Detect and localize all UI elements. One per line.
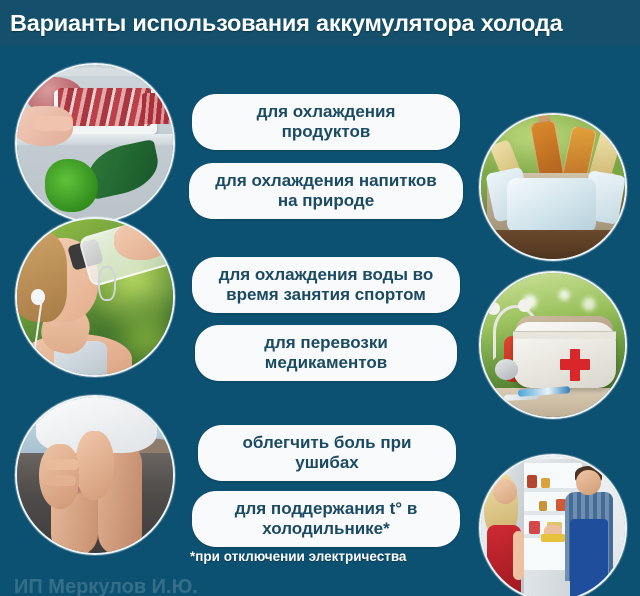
usage-pill-line1: для охлаждения воды во bbox=[219, 265, 434, 285]
photo-beer-on-ice bbox=[479, 113, 627, 261]
title-bar: Варианты использования аккумулятора холо… bbox=[0, 0, 640, 46]
usage-pill-line2: время занятия спортом bbox=[219, 285, 434, 305]
photo-fridge-repair bbox=[479, 454, 627, 596]
footnote: *при отключении электричества bbox=[190, 549, 406, 564]
usage-pill-line2: холодильнике* bbox=[235, 519, 418, 539]
usage-pill-line1: для охлаждения bbox=[257, 102, 396, 122]
photo-knee-injury bbox=[15, 395, 175, 555]
watermark: ИП Меркулов И.Ю. bbox=[14, 576, 198, 596]
usage-pill-line1: облегчить боль при bbox=[243, 433, 412, 453]
photo-woman-drinking bbox=[15, 217, 175, 377]
photo-meat-in-fridge bbox=[15, 63, 175, 223]
usage-pill-transport-meds[interactable]: для перевозки медикаментов bbox=[195, 325, 457, 381]
photo-first-aid-kit bbox=[479, 271, 627, 419]
usage-pill-relieve-bruise[interactable]: облегчить боль при ушибах bbox=[198, 425, 456, 481]
usage-pill-cooling-drinks[interactable]: для охлаждения напитков на природе bbox=[189, 163, 463, 219]
red-cross-icon-bar bbox=[560, 359, 590, 370]
page-title: Варианты использования аккумулятора холо… bbox=[10, 10, 562, 37]
usage-pill-keep-fridge-temp[interactable]: для поддержания t° в холодильнике* bbox=[192, 491, 460, 547]
usage-pill-line2: ушибах bbox=[243, 453, 412, 473]
infographic-canvas: Варианты использования аккумулятора холо… bbox=[0, 0, 640, 596]
usage-pill-cooling-food[interactable]: для охлаждения продуктов bbox=[192, 94, 460, 150]
usage-pill-line1: для поддержания t° в bbox=[235, 499, 418, 519]
usage-pill-line1: для перевозки bbox=[264, 333, 388, 353]
usage-pill-line1: для охлаждения напитков bbox=[215, 171, 436, 191]
usage-pill-cooling-water[interactable]: для охлаждения воды во время занятия спо… bbox=[192, 257, 460, 313]
usage-pill-line2: продуктов bbox=[257, 122, 396, 142]
usage-pill-line2: на природе bbox=[215, 191, 436, 211]
usage-pill-line2: медикаментов bbox=[264, 353, 388, 373]
